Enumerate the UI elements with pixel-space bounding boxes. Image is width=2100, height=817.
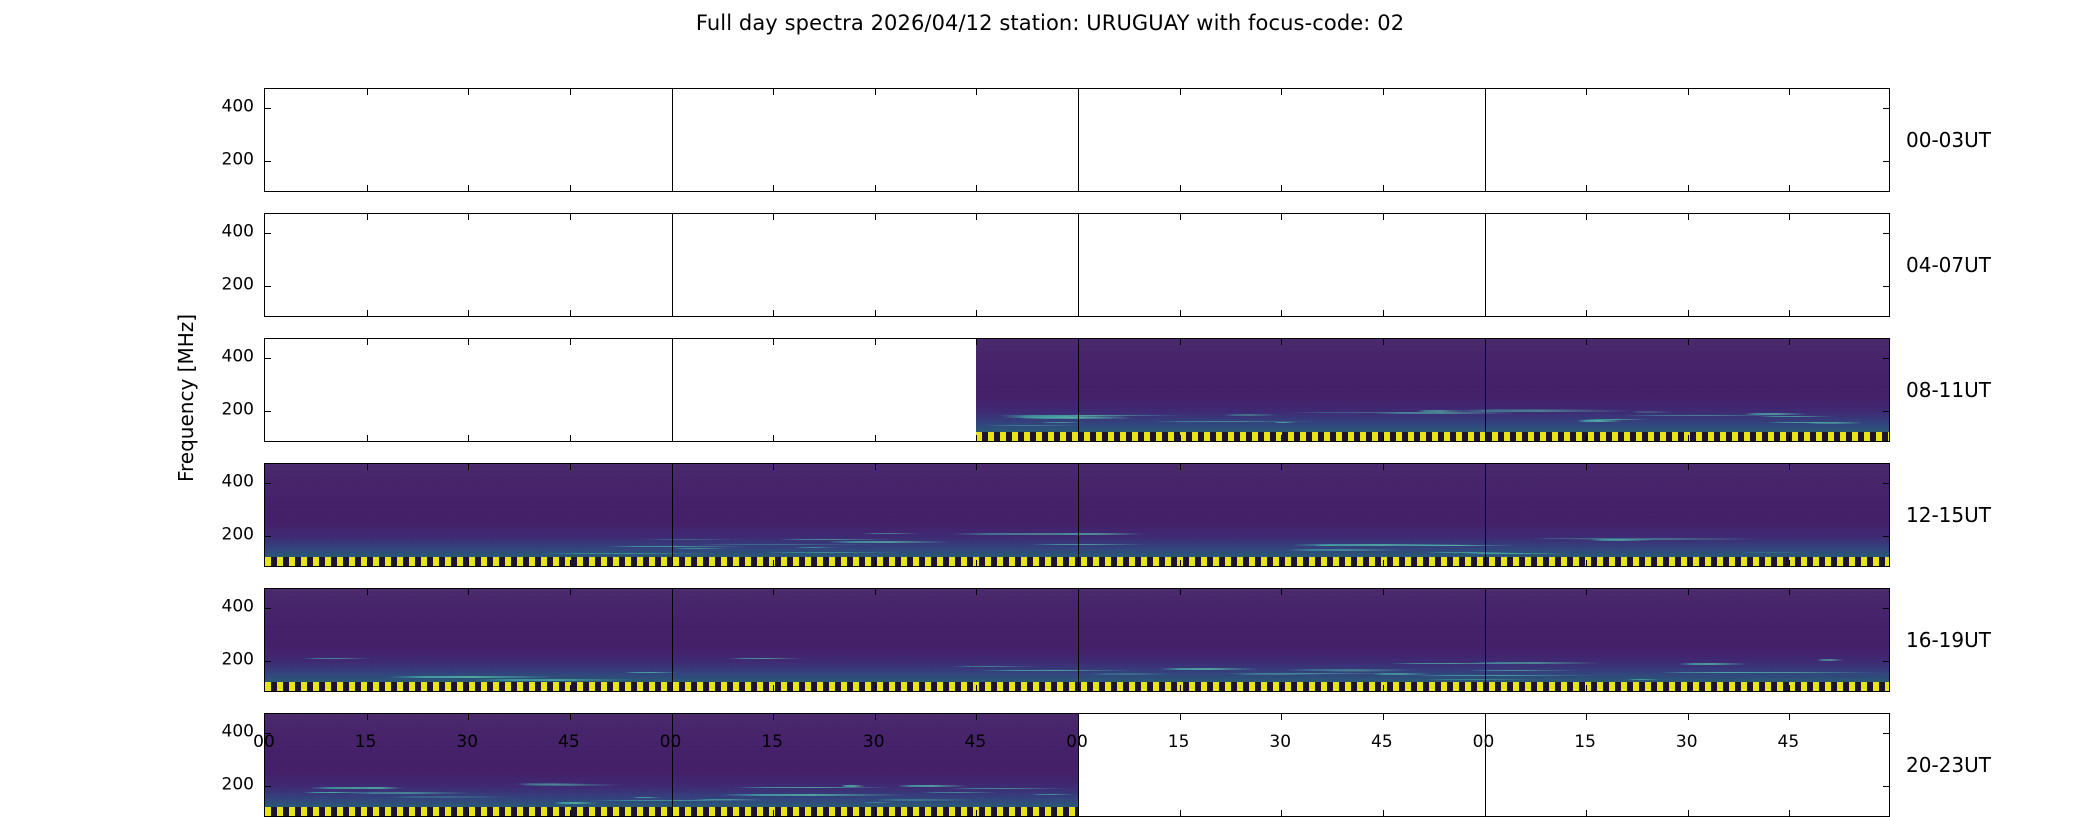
y-tick-mark [265,411,271,412]
x-tick-mark [1789,464,1790,470]
y-tick-mark [1883,733,1889,734]
x-tick-mark [1688,435,1689,441]
y-tick-label: 400 [184,98,254,115]
hour-separator-line [1078,464,1079,566]
row-label-08-11ut: 08-11UT [1906,380,1991,400]
x-tick-mark [1688,589,1689,595]
x-tick-mark [1281,214,1282,220]
y-tick-label: 200 [184,152,254,169]
hour-separator-line [672,89,673,191]
row-label-00-03ut: 00-03UT [1906,130,1991,150]
x-tick-mark [875,685,876,691]
x-tick-mark [976,89,977,95]
x-tick-mark [367,435,368,441]
x-tick-mark [1180,560,1181,566]
y-tick-label: 400 [184,723,254,740]
y-tick-mark [265,536,271,537]
hour-separator-line [1078,714,1079,816]
y-tick-mark [265,108,271,109]
spectrogram-figure: Full day spectra 2026/04/12 station: URU… [0,0,2100,800]
x-tick-mark [570,89,571,95]
x-tick-label: 15 [1574,734,1596,751]
y-tick-mark [1883,786,1889,787]
x-tick-mark [773,714,774,720]
y-tick-label: 400 [184,348,254,365]
x-tick-label: 30 [456,734,478,751]
spectrogram-pixels [976,339,1890,432]
x-tick-mark [367,89,368,95]
x-tick-mark [976,214,977,220]
x-tick-mark [1789,685,1790,691]
y-tick-mark [265,608,271,609]
hour-separator-line [1485,214,1486,316]
hour-separator-line [1078,589,1079,691]
x-tick-mark [773,685,774,691]
x-tick-mark [1688,714,1689,720]
y-tick-mark [1883,233,1889,234]
x-tick-mark [1688,810,1689,816]
y-tick-mark [1883,536,1889,537]
x-tick-mark [468,89,469,95]
x-tick-mark [1688,560,1689,566]
x-tick-mark [1586,214,1587,220]
y-tick-label: 400 [184,473,254,490]
y-tick-mark [265,483,271,484]
x-tick-mark [1383,310,1384,316]
x-tick-mark [773,560,774,566]
x-tick-mark [468,714,469,720]
y-tick-mark [265,733,271,734]
x-tick-mark [367,339,368,345]
x-tick-mark [468,685,469,691]
y-tick-mark [265,233,271,234]
x-tick-mark [1180,89,1181,95]
x-tick-label: 00 [660,734,682,751]
hour-separator-line [1485,89,1486,191]
x-tick-mark [1180,589,1181,595]
y-tick-mark [1883,108,1889,109]
x-tick-mark [367,310,368,316]
x-tick-label: 30 [863,734,885,751]
x-tick-mark [1180,185,1181,191]
x-tick-mark [1789,435,1790,441]
x-tick-mark [773,310,774,316]
x-tick-mark [1789,185,1790,191]
x-tick-mark [468,560,469,566]
x-tick-mark [570,685,571,691]
y-tick-mark [265,661,271,662]
x-tick-mark [570,310,571,316]
hour-separator-line [1485,714,1486,816]
x-tick-mark [976,560,977,566]
x-tick-label: 00 [1473,734,1495,751]
x-tick-mark [468,810,469,816]
x-tick-mark [976,589,977,595]
x-tick-mark [1180,214,1181,220]
x-tick-mark [1586,810,1587,816]
x-tick-mark [1180,685,1181,691]
hour-separator-line [1485,464,1486,566]
x-tick-mark [367,685,368,691]
y-tick-label: 400 [184,598,254,615]
y-tick-mark [1883,411,1889,412]
x-tick-mark [468,185,469,191]
x-tick-mark [976,464,977,470]
hour-separator-line [672,714,673,816]
x-tick-mark [468,310,469,316]
x-tick-mark [1688,310,1689,316]
x-tick-mark [1180,339,1181,345]
x-tick-mark [875,464,876,470]
hour-separator-line [1078,214,1079,316]
x-tick-mark [570,714,571,720]
x-tick-mark [1688,89,1689,95]
y-tick-label: 200 [184,527,254,544]
x-tick-mark [1383,589,1384,595]
x-tick-mark [1383,714,1384,720]
y-tick-mark [265,286,271,287]
hour-separator-line [672,464,673,566]
y-axis-label-text: Frequency [MHz] [176,314,196,482]
y-tick-label: 400 [184,223,254,240]
x-tick-mark [875,89,876,95]
x-tick-mark [976,435,977,441]
y-tick-mark [265,161,271,162]
x-tick-label: 30 [1269,734,1291,751]
x-tick-mark [1281,685,1282,691]
x-tick-mark [1586,714,1587,720]
x-tick-mark [1586,589,1587,595]
x-tick-mark [773,185,774,191]
spectrogram-image [976,339,1890,441]
x-tick-mark [875,310,876,316]
x-tick-mark [468,435,469,441]
x-tick-mark [1180,464,1181,470]
x-tick-label: 45 [965,734,987,751]
x-tick-mark [1586,435,1587,441]
x-tick-label: 45 [1778,734,1800,751]
x-tick-label: 00 [1066,734,1088,751]
x-tick-mark [1281,435,1282,441]
hour-separator-line [1485,339,1486,441]
x-tick-mark [1281,185,1282,191]
x-tick-mark [367,589,368,595]
x-tick-label: 45 [1371,734,1393,751]
x-tick-mark [367,810,368,816]
x-tick-mark [570,214,571,220]
x-tick-mark [367,714,368,720]
hour-separator-line [672,589,673,691]
x-tick-mark [875,714,876,720]
x-tick-mark [773,435,774,441]
y-tick-mark [1883,286,1889,287]
x-tick-mark [367,214,368,220]
hour-separator-line [672,214,673,316]
x-tick-mark [1688,214,1689,220]
x-tick-mark [1281,310,1282,316]
x-tick-label: 30 [1676,734,1698,751]
subplot-row-12-15ut [264,463,1890,567]
saturation-dash-band [976,432,1890,441]
hour-separator-line [1078,89,1079,191]
x-tick-mark [1789,214,1790,220]
x-tick-mark [773,464,774,470]
x-tick-mark [875,339,876,345]
x-tick-mark [1586,310,1587,316]
y-tick-mark [1883,483,1889,484]
y-tick-mark [1883,661,1889,662]
x-tick-mark [1281,339,1282,345]
x-tick-mark [976,310,977,316]
x-tick-mark [367,560,368,566]
hour-separator-line [672,339,673,441]
x-tick-mark [875,214,876,220]
x-tick-mark [875,589,876,595]
subplot-row-04-07ut [264,213,1890,317]
x-tick-mark [1688,464,1689,470]
x-tick-mark [1383,185,1384,191]
x-tick-mark [976,685,977,691]
x-tick-mark [1180,310,1181,316]
row-label-16-19ut: 16-19UT [1906,630,1991,650]
subplot-row-16-19ut [264,588,1890,692]
x-tick-mark [1180,714,1181,720]
hour-separator-line [1078,339,1079,441]
x-tick-mark [1281,89,1282,95]
x-tick-mark [1789,339,1790,345]
x-tick-mark [1383,89,1384,95]
x-tick-mark [1688,685,1689,691]
x-tick-mark [1789,714,1790,720]
y-tick-mark [265,358,271,359]
x-tick-mark [1688,339,1689,345]
x-tick-label: 15 [1168,734,1190,751]
y-tick-label: 200 [184,777,254,794]
y-tick-label: 200 [184,652,254,669]
x-tick-mark [773,589,774,595]
x-tick-mark [1789,560,1790,566]
x-tick-mark [1789,310,1790,316]
x-tick-mark [773,810,774,816]
x-tick-mark [1383,214,1384,220]
x-tick-mark [570,185,571,191]
x-tick-mark [773,339,774,345]
x-tick-mark [1383,435,1384,441]
x-tick-label: 00 [253,734,275,751]
y-tick-mark [1883,161,1889,162]
subplot-row-08-11ut [264,338,1890,442]
y-tick-mark [1883,608,1889,609]
x-tick-mark [1586,560,1587,566]
x-tick-mark [1586,339,1587,345]
x-tick-mark [1180,435,1181,441]
x-tick-mark [1281,589,1282,595]
x-tick-mark [875,810,876,816]
hour-separator-line [1485,589,1486,691]
subplot-row-20-23ut [264,713,1890,817]
x-tick-mark [367,464,368,470]
x-tick-mark [1281,714,1282,720]
x-tick-mark [1281,464,1282,470]
x-tick-mark [570,435,571,441]
x-tick-mark [976,185,977,191]
x-tick-mark [1383,685,1384,691]
x-tick-mark [468,464,469,470]
x-tick-mark [468,589,469,595]
row-label-20-23ut: 20-23UT [1906,755,1991,775]
x-tick-mark [570,589,571,595]
x-tick-mark [1180,810,1181,816]
x-tick-mark [1586,89,1587,95]
x-tick-mark [1586,464,1587,470]
x-tick-mark [773,214,774,220]
x-tick-mark [1281,810,1282,816]
y-tick-mark [1883,358,1889,359]
row-label-04-07ut: 04-07UT [1906,255,1991,275]
x-tick-label: 15 [761,734,783,751]
row-label-12-15ut: 12-15UT [1906,505,1991,525]
x-tick-mark [570,464,571,470]
x-tick-mark [875,185,876,191]
x-tick-mark [1688,185,1689,191]
x-tick-mark [976,810,977,816]
x-tick-mark [468,339,469,345]
x-tick-mark [468,214,469,220]
x-tick-mark [1383,339,1384,345]
y-tick-label: 200 [184,277,254,294]
x-tick-mark [1383,810,1384,816]
y-tick-label: 200 [184,402,254,419]
x-tick-mark [1586,185,1587,191]
x-tick-mark [1789,89,1790,95]
figure-title: Full day spectra 2026/04/12 station: URU… [0,11,2100,35]
x-tick-mark [1586,685,1587,691]
x-tick-mark [367,185,368,191]
x-tick-mark [1789,810,1790,816]
y-tick-mark [265,786,271,787]
x-tick-label: 15 [355,734,377,751]
x-tick-mark [875,435,876,441]
x-tick-mark [976,714,977,720]
x-tick-label: 45 [558,734,580,751]
x-tick-mark [875,560,876,566]
x-tick-mark [1383,560,1384,566]
x-tick-mark [570,339,571,345]
x-tick-mark [1281,560,1282,566]
x-tick-mark [1383,464,1384,470]
x-tick-mark [570,810,571,816]
x-tick-mark [570,560,571,566]
x-tick-mark [976,339,977,345]
subplot-row-00-03ut [264,88,1890,192]
x-tick-mark [1789,589,1790,595]
x-tick-mark [773,89,774,95]
